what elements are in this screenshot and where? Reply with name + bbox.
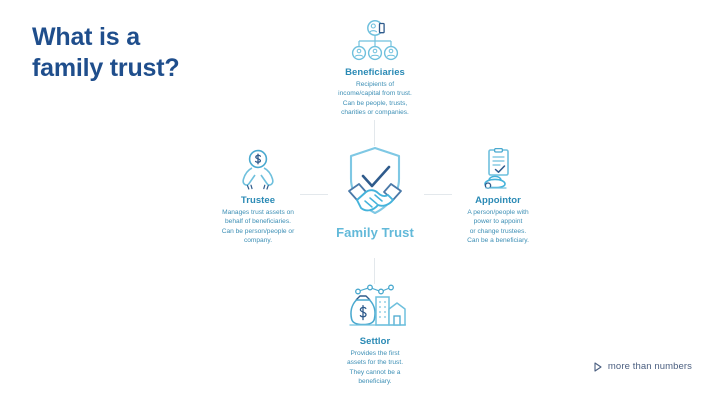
connector-bottom — [374, 258, 375, 284]
page-title: What is a family trust? — [32, 22, 179, 83]
center-node-label: Family Trust — [325, 225, 425, 240]
shield-check-handshake-icon — [325, 143, 425, 223]
node-settlor-description: Provides the first assets for the trust.… — [313, 349, 437, 386]
node-appointor: Appointor A person/people with power to … — [433, 148, 563, 245]
node-beneficiaries: Beneficiaries Recipients of income/capit… — [305, 20, 445, 117]
slide-canvas: What is a family trust? Family Trust — [0, 0, 720, 404]
node-appointor-label: Appointor — [433, 195, 563, 206]
money-bag-buildings-icon — [313, 283, 437, 333]
node-beneficiaries-label: Beneficiaries — [305, 67, 445, 78]
center-node-family-trust: Family Trust — [325, 143, 425, 240]
node-beneficiaries-description: Recipients of income/capital from trust.… — [305, 80, 445, 117]
node-trustee-description: Manages trust assets on behalf of benefi… — [193, 208, 323, 245]
node-settlor-label: Settlor — [313, 336, 437, 347]
tagline: more than numbers — [594, 361, 692, 372]
node-trustee-label: Trustee — [193, 195, 323, 206]
document-stamp-icon — [433, 148, 563, 192]
node-appointor-description: A person/people with power to appoint or… — [433, 208, 563, 245]
node-settlor: Settlor Provides the first assets for th… — [313, 283, 437, 386]
tagline-text: more than numbers — [608, 361, 692, 372]
org-chart-people-icon — [305, 20, 445, 64]
play-triangle-icon — [594, 362, 602, 372]
node-trustee: Trustee Manages trust assets on behalf o… — [193, 148, 323, 245]
hands-holding-coin-icon — [193, 148, 323, 192]
